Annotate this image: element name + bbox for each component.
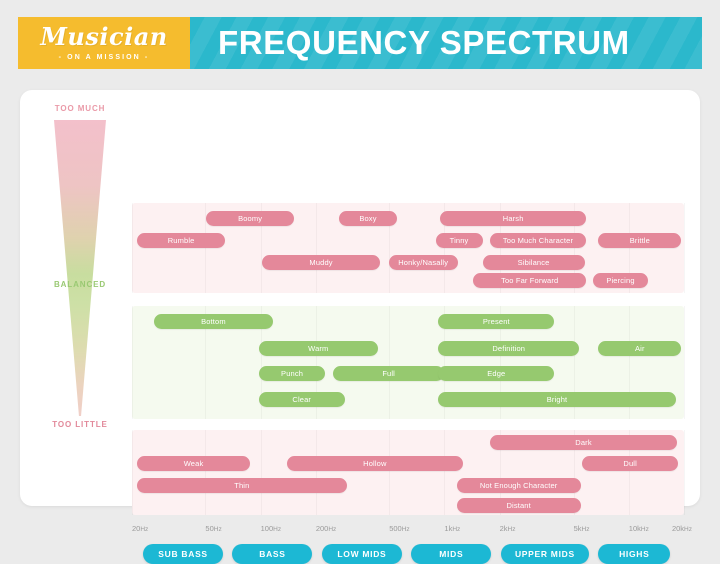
gridline (132, 430, 133, 515)
frequency-axis: 20Hz50Hz100Hz200Hz500Hz1kHz2kHz5kHz10kHz… (132, 524, 692, 538)
title-block: FREQUENCY SPECTRUM (190, 17, 702, 69)
header-bar: Musician - ON A MISSION - FREQUENCY SPEC… (18, 17, 702, 69)
balance-gauge: TOO MUCH BALANCED TOO LITTLE (36, 104, 124, 434)
section-too-much: BoomyBoxyHarshRumbleTinnyToo Much Charac… (132, 203, 684, 293)
descriptor-pill[interactable]: Sibilance (483, 255, 585, 270)
descriptor-pill[interactable]: Muddy (262, 255, 381, 270)
axis-tick-label: 20kHz (672, 524, 692, 533)
descriptor-pill[interactable]: Not Enough Character (457, 478, 581, 493)
descriptor-pill[interactable]: Thin (137, 478, 347, 493)
gridline (389, 430, 390, 515)
section-too-little: DarkWeakHollowDullThinNot Enough Charact… (132, 430, 684, 515)
band-button[interactable]: HIGHS (598, 544, 670, 564)
descriptor-pill[interactable]: Honky/Nasally (389, 255, 458, 270)
gauge-label-too-much: TOO MUCH (36, 104, 124, 113)
logo-block: Musician - ON A MISSION - (18, 17, 190, 69)
descriptor-pill[interactable]: Present (438, 314, 554, 329)
axis-tick-label: 200Hz (316, 524, 336, 533)
axis-tick-label: 20Hz (132, 524, 148, 533)
descriptor-pill[interactable]: Dull (582, 456, 679, 471)
gridline (261, 430, 262, 515)
descriptor-pill[interactable]: Edge (438, 366, 554, 381)
descriptor-pill[interactable]: Distant (457, 498, 581, 513)
descriptor-pill[interactable]: Bright (438, 392, 675, 407)
descriptor-pill[interactable]: Rumble (137, 233, 225, 248)
gridline (205, 430, 206, 515)
section-balanced: BottomPresentWarmDefinitionAirPunchFullE… (132, 306, 684, 419)
descriptor-pill[interactable]: Boomy (206, 211, 294, 226)
descriptor-pill[interactable]: Air (598, 341, 681, 356)
axis-tick-label: 2kHz (500, 524, 516, 533)
descriptor-pill[interactable]: Full (333, 366, 443, 381)
gridline (389, 306, 390, 419)
axis-tick-label: 1kHz (444, 524, 460, 533)
descriptor-pill[interactable]: Punch (259, 366, 325, 381)
band-button[interactable]: BASS (232, 544, 312, 564)
logo-wordmark: Musician (40, 25, 167, 49)
page-title: FREQUENCY SPECTRUM (190, 24, 630, 62)
band-button[interactable]: LOW MIDS (322, 544, 402, 564)
logo-tagline: - ON A MISSION - (59, 54, 150, 61)
band-button[interactable]: SUB BASS (143, 544, 223, 564)
descriptor-pill[interactable]: Too Much Character (490, 233, 587, 248)
axis-tick-label: 500Hz (389, 524, 409, 533)
descriptor-pill[interactable]: Warm (259, 341, 378, 356)
axis-tick-label: 100Hz (261, 524, 281, 533)
gauge-label-balanced: BALANCED (36, 280, 124, 289)
axis-tick-label: 10kHz (629, 524, 649, 533)
gridline (316, 430, 317, 515)
descriptor-pill[interactable]: Brittle (598, 233, 681, 248)
descriptor-pill[interactable]: Clear (259, 392, 345, 407)
axis-tick-label: 50Hz (205, 524, 221, 533)
band-button[interactable]: MIDS (411, 544, 491, 564)
gridline (132, 306, 133, 419)
band-button[interactable]: UPPER MIDS (501, 544, 589, 564)
descriptor-pill[interactable]: Dark (490, 435, 678, 450)
descriptor-pill[interactable]: Bottom (154, 314, 273, 329)
axis-tick-label: 5kHz (574, 524, 590, 533)
descriptor-pill[interactable]: Boxy (339, 211, 397, 226)
gridline (684, 203, 685, 293)
gridline (684, 306, 685, 419)
gridline (316, 203, 317, 293)
descriptor-pill[interactable]: Piercing (593, 273, 648, 288)
frequency-band-buttons: SUB BASSBASSLOW MIDSMIDSUPPER MIDSHIGHS (132, 544, 692, 564)
descriptor-pill[interactable]: Harsh (440, 211, 586, 226)
gauge-label-too-little: TOO LITTLE (36, 420, 124, 429)
descriptor-pill[interactable]: Hollow (287, 456, 464, 471)
gridline (132, 203, 133, 293)
descriptor-pill[interactable]: Weak (137, 456, 250, 471)
gridline (444, 430, 445, 515)
gridline (684, 430, 685, 515)
descriptor-pill[interactable]: Too Far Forward (473, 273, 586, 288)
descriptor-pill[interactable]: Tinny (436, 233, 483, 248)
gauge-funnel-shape (54, 120, 106, 416)
descriptor-pill[interactable]: Definition (438, 341, 579, 356)
content-card: TOO MUCH BALANCED TOO LITTLE BoomyBoxyHa… (20, 90, 700, 506)
